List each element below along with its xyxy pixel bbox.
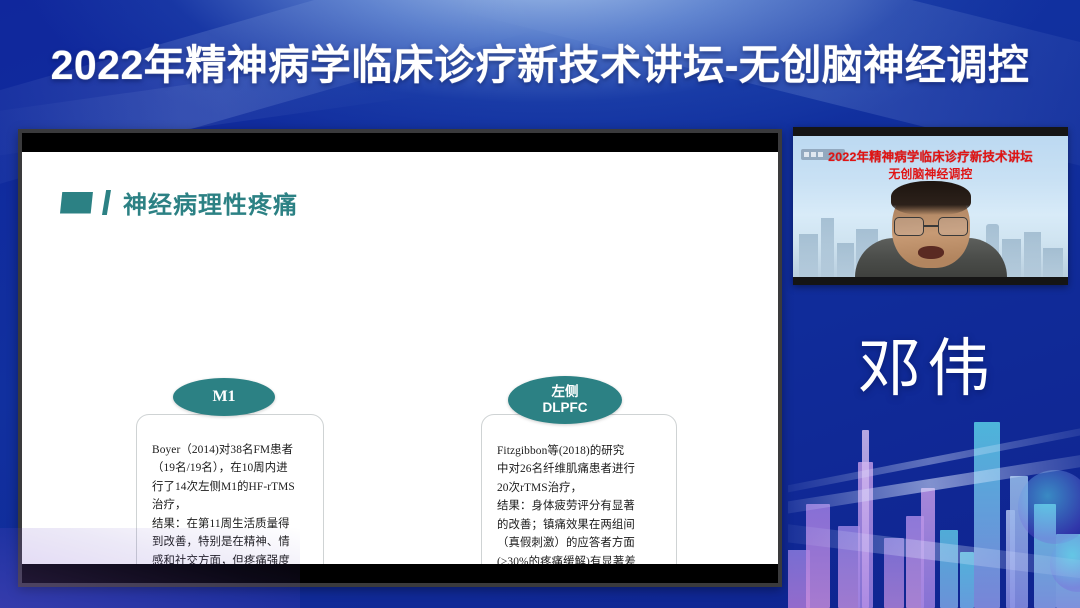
slide-title: 神经病理性疼痛 bbox=[123, 185, 298, 220]
card-line: 结果：身体疲劳评分有显著 bbox=[497, 500, 635, 512]
card-line: （真假刺激）的应答者方面 bbox=[497, 537, 635, 549]
presenter-head bbox=[892, 184, 970, 268]
header-bar: 2022年精神病学临床诊疗新技术讲坛-无创脑神经调控 bbox=[0, 0, 1080, 122]
heading-slash-icon bbox=[102, 190, 111, 215]
heading-block-icon bbox=[60, 192, 93, 214]
card-line: 治疗， bbox=[152, 499, 186, 511]
card-line: Boyer（2014)对38名FM患者 bbox=[152, 444, 293, 456]
presenter-name: 邓伟 bbox=[858, 318, 996, 409]
evidence-card-dlpfc: Fitzgibbon等(2018)的研究 中对26名纤维肌痛患者进行 20次rT… bbox=[481, 414, 677, 564]
card-line: （19名/19名），在10周内进 bbox=[152, 462, 288, 474]
glasses-icon bbox=[894, 217, 968, 236]
pip-bottom-band bbox=[793, 277, 1068, 285]
decorative-skyline bbox=[788, 418, 1080, 608]
webcam-pip-panel[interactable]: 2022年精神病学临床诊疗新技术讲坛 无创脑神经调控 2022 20:00 bbox=[793, 127, 1068, 285]
card-line: Fitzgibbon等(2018)的研究 bbox=[497, 445, 624, 457]
badge-m1: M1 bbox=[173, 378, 275, 416]
presenter-mouth bbox=[918, 246, 944, 259]
badge-dlpfc-line2: DLPFC bbox=[543, 400, 588, 416]
slide-heading: 神经病理性疼痛 bbox=[60, 185, 298, 220]
card-line: 的改善；镇痛效果在两组间 bbox=[497, 519, 635, 531]
page-title: 2022年精神病学临床诊疗新技术讲坛-无创脑神经调控 bbox=[51, 31, 1030, 91]
pip-slide-title-line2: 无创脑神经调控 bbox=[793, 165, 1068, 182]
slide-canvas: 神经病理性疼痛 Boyer（2014)对38名FM患者 （19名/19名），在1… bbox=[22, 152, 778, 564]
card-line: 20次rTMS治疗， bbox=[497, 482, 582, 494]
badge-dlpfc: 左侧 DLPFC bbox=[508, 376, 622, 424]
card-line: (>30%的疼痛缓解)有显著差 bbox=[497, 556, 636, 564]
pip-slide-title-line1: 2022年精神病学临床诊疗新技术讲坛 bbox=[793, 147, 1068, 165]
badge-dlpfc-line1: 左侧 bbox=[552, 384, 579, 400]
card-line: 中对26名纤维肌痛患者进行 bbox=[497, 463, 635, 475]
evidence-card-dlpfc-text: Fitzgibbon等(2018)的研究 中对26名纤维肌痛患者进行 20次rT… bbox=[482, 415, 676, 564]
badge-m1-label: M1 bbox=[212, 388, 235, 406]
pip-top-band bbox=[793, 127, 1068, 136]
card-line: 行了14次左侧M1的HF-rTMS bbox=[152, 481, 295, 493]
slide-letterbox: 神经病理性疼痛 Boyer（2014)对38名FM患者 （19名/19名），在1… bbox=[22, 133, 778, 583]
slide-share-frame[interactable]: 神经病理性疼痛 Boyer（2014)对38名FM患者 （19名/19名），在1… bbox=[18, 129, 782, 587]
pip-video-feed: 2022年精神病学临床诊疗新技术讲坛 无创脑神经调控 2022 20:00 bbox=[793, 136, 1068, 277]
presentation-stage: 2022年精神病学临床诊疗新技术讲坛-无创脑神经调控 神经病理性疼痛 Boyer… bbox=[0, 0, 1080, 608]
presenter-hair bbox=[891, 181, 971, 215]
presenter-video-silhouette bbox=[856, 184, 1006, 277]
decorative-haze bbox=[0, 528, 300, 608]
